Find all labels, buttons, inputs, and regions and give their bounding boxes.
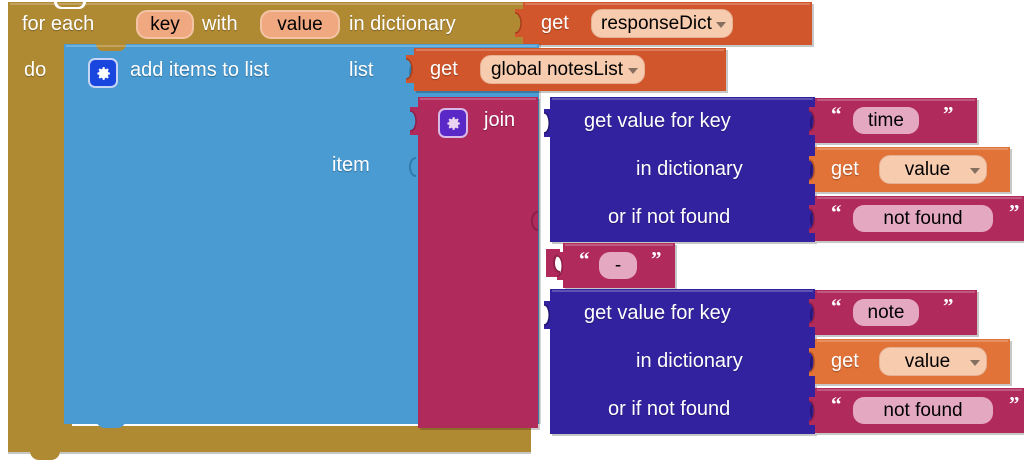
block-get-value-variable-1[interactable]: get value — [815, 147, 1010, 192]
text-separator-field[interactable]: - — [599, 252, 637, 279]
in-dictionary-label: in dictionary — [636, 159, 743, 179]
open-quote-glyph: “ — [831, 104, 842, 125]
get-label: get — [430, 59, 458, 79]
close-quote-glyph: ” — [1009, 394, 1020, 415]
join-title-label: join — [484, 110, 515, 130]
get-global-notes-list-variable-dropdown[interactable]: global notesList — [480, 55, 645, 84]
for-each-top-highlight — [10, 3, 529, 5]
text-separator-top-highlight — [565, 244, 673, 246]
chevron-down-icon[interactable] — [628, 68, 638, 74]
get-value-variable-2-output-plug — [803, 348, 817, 376]
with-label: with — [202, 14, 238, 34]
blocks-workspace-canvas[interactable]: for each key with value in dictionary do… — [0, 0, 1024, 466]
chevron-down-icon[interactable] — [970, 168, 980, 174]
block-text-separator[interactable]: “ - ” — [563, 243, 675, 288]
get-global-notes-list-output-plug — [400, 55, 416, 83]
text-note-field[interactable]: note — [853, 299, 919, 326]
join-top-highlight — [420, 98, 536, 100]
get-global-notes-list-top-highlight — [416, 49, 724, 51]
item-input-label: item — [332, 155, 370, 175]
block-text-note[interactable]: “ note ” — [815, 290, 977, 335]
dict-lookup-time-top-highlight — [552, 98, 813, 100]
get-value-for-key-label: get value for key — [584, 111, 731, 131]
join-output-plug — [404, 107, 420, 135]
get-label: get — [541, 13, 569, 33]
close-quote-glyph: ” — [943, 296, 954, 317]
open-quote-glyph: “ — [831, 394, 842, 415]
close-quote-glyph: ” — [943, 104, 954, 125]
get-value-variable-1-output-plug — [803, 156, 817, 184]
get-value-variable-1-dropdown[interactable]: value — [879, 155, 987, 184]
or-if-not-found-label: or if not found — [608, 399, 730, 419]
text-not-found-2-output-plug — [803, 397, 817, 425]
block-get-response-dict[interactable]: get responseDict — [523, 2, 812, 45]
text-time-top-highlight — [817, 99, 975, 101]
text-time-field[interactable]: time — [853, 107, 919, 134]
text-not-found-1-field[interactable]: not found — [853, 205, 993, 232]
chevron-down-icon[interactable] — [970, 360, 980, 366]
bottom-connector-plug — [30, 450, 60, 460]
for-each-left-column — [8, 46, 72, 426]
add-items-to-list-title: add items to list — [130, 60, 269, 80]
text-note-top-highlight — [817, 291, 975, 293]
get-response-dict-variable-dropdown[interactable]: responseDict — [591, 9, 733, 38]
get-label: get — [831, 351, 859, 371]
get-label: get — [831, 159, 859, 179]
open-quote-glyph: “ — [579, 249, 590, 270]
open-quote-glyph: “ — [831, 202, 842, 223]
for-each-value-field[interactable]: value — [260, 10, 340, 39]
for-each-bottom-bar — [8, 426, 531, 452]
open-quote-glyph: “ — [831, 296, 842, 317]
or-if-not-found-label: or if not found — [608, 207, 730, 227]
list-input-label: list — [349, 60, 373, 80]
get-value-for-key-label: get value for key — [584, 303, 731, 323]
text-separator-output-plug — [551, 252, 565, 280]
dict-lookup-note-top-highlight — [552, 290, 813, 292]
text-not-found-1-output-plug — [803, 205, 817, 233]
do-label: do — [24, 60, 46, 80]
for-each-label: for each — [22, 14, 94, 34]
block-get-value-for-key-note[interactable]: get value for key in dictionary or if no… — [550, 289, 815, 434]
block-text-time[interactable]: “ time ” — [815, 98, 977, 143]
block-text-not-found-1[interactable]: “ not found ” — [815, 196, 1024, 241]
add-items-bottom-connector — [96, 418, 126, 428]
mutator-gear-icon[interactable] — [88, 58, 118, 88]
get-value-variable-1-name: value — [905, 160, 950, 179]
block-get-value-variable-2[interactable]: get value — [815, 339, 1010, 384]
add-items-top-highlight — [66, 45, 537, 47]
text-not-found-1-top-highlight — [817, 197, 1022, 199]
get-response-dict-variable-name: responseDict — [601, 14, 712, 33]
close-quote-glyph: ” — [1009, 202, 1020, 223]
get-response-dict-top-highlight — [525, 3, 810, 5]
chevron-down-icon[interactable] — [716, 22, 726, 28]
in-dictionary-label: in dictionary — [636, 351, 743, 371]
get-value-variable-2-dropdown[interactable]: value — [879, 347, 987, 376]
dict-lookup-time-output-plug — [538, 109, 552, 137]
join-input-socket-1[interactable] — [524, 207, 538, 235]
get-value-variable-2-name: value — [905, 352, 950, 371]
block-text-not-found-2[interactable]: “ not found ” — [815, 388, 1024, 433]
text-not-found-2-top-highlight — [817, 389, 1022, 391]
text-time-output-plug — [803, 107, 817, 135]
mutator-gear-icon[interactable] — [438, 108, 468, 138]
text-note-output-plug — [803, 299, 817, 327]
dict-lookup-note-output-plug — [538, 301, 552, 329]
block-get-global-notes-list[interactable]: get global notesList — [414, 48, 726, 91]
get-value-variable-2-top-highlight — [817, 340, 1008, 342]
item-input-socket[interactable] — [402, 153, 416, 181]
text-not-found-2-field[interactable]: not found — [853, 397, 993, 424]
block-get-value-for-key-time[interactable]: get value for key in dictionary or if no… — [550, 97, 815, 242]
get-global-notes-list-variable-name: global notesList — [491, 60, 623, 79]
get-value-variable-1-top-highlight — [817, 148, 1008, 150]
close-quote-glyph: ” — [651, 249, 662, 270]
get-response-dict-output-plug — [509, 9, 525, 37]
for-each-key-field[interactable]: key — [136, 10, 194, 39]
in-dictionary-label: in dictionary — [349, 14, 456, 34]
block-join[interactable]: join — [418, 97, 538, 428]
